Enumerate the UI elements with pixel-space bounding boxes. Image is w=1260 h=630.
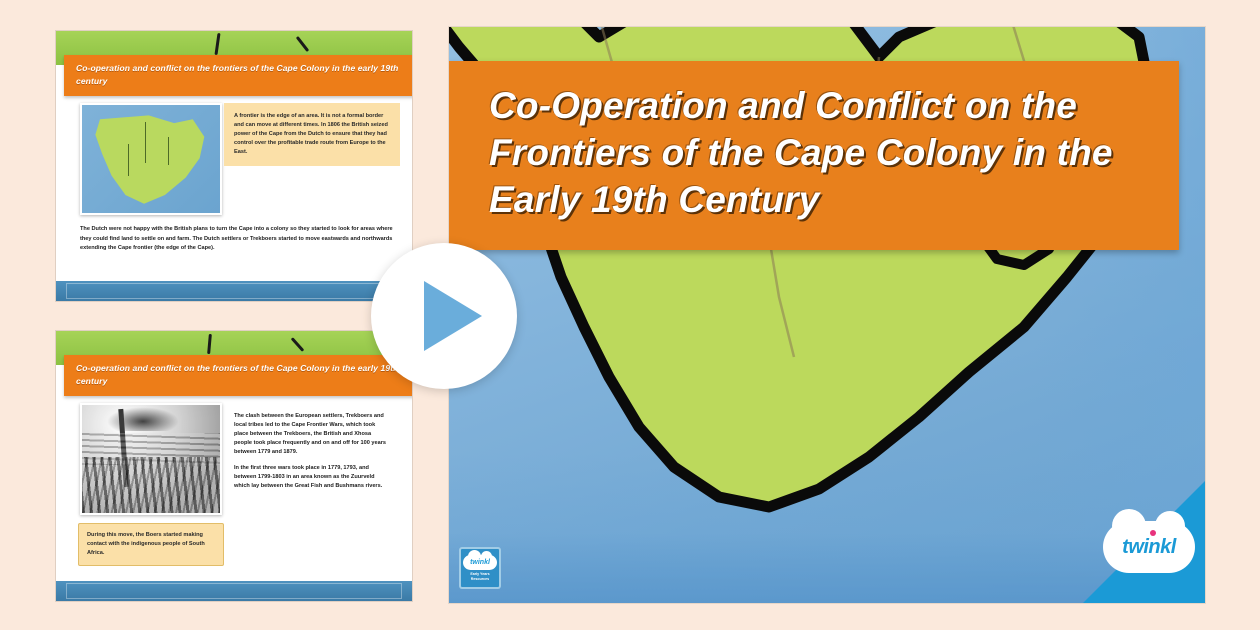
slide-2-callout: During this move, the Boers started maki…: [78, 523, 224, 566]
twinkl-badge[interactable]: twinkl Early Years Resources: [459, 547, 501, 589]
slide-2-engraving-image: [80, 403, 222, 515]
slide-2-side-text-panel: The clash between the European settlers,…: [224, 403, 400, 500]
thumbnail-column: Co-operation and conflict on the frontie…: [55, 30, 415, 602]
engraving-figures: [82, 457, 220, 513]
slide-2-side-text-2: In the first three wars took place in 17…: [234, 464, 390, 491]
play-triangle-icon: [424, 281, 482, 351]
slide-2-body: The clash between the European settlers,…: [56, 403, 412, 601]
mini-map-border: [168, 137, 169, 165]
twinkl-logo[interactable]: twinkl: [1103, 521, 1195, 573]
thumbnail-slide-1[interactable]: Co-operation and conflict on the frontie…: [55, 30, 413, 302]
main-slide-title: Co-Operation and Conflict on the Frontie…: [489, 83, 1145, 224]
slide-1-footer: [56, 279, 412, 301]
thumbnail-slide-2[interactable]: Co-operation and conflict on the frontie…: [55, 330, 413, 602]
slide-1-map-image: [80, 103, 222, 215]
badge-cloud-icon: twinkl: [463, 555, 497, 570]
slide-2-title: Co-operation and conflict on the frontie…: [64, 355, 413, 396]
mini-map-icon: [82, 105, 220, 213]
slide-1-side-text-panel: A frontier is the edge of an area. It is…: [224, 103, 400, 166]
slide-2-side-text-1: The clash between the European settlers,…: [234, 412, 390, 457]
mini-map-land: [93, 111, 209, 208]
slide-1-title: Co-operation and conflict on the frontie…: [64, 55, 413, 96]
badge-wordmark: twinkl: [470, 559, 490, 566]
main-title-banner: Co-Operation and Conflict on the Frontie…: [449, 61, 1179, 250]
main-slide-preview[interactable]: Co-Operation and Conflict on the Frontie…: [448, 26, 1206, 604]
slide-1-body: A frontier is the edge of an area. It is…: [56, 103, 412, 301]
play-button[interactable]: [371, 243, 517, 389]
slide-1-footer-inner: [66, 283, 402, 299]
twinkl-dot-icon: [1150, 530, 1156, 536]
slide-2-footer: [56, 579, 412, 601]
badge-subtitle: Early Years Resources: [461, 572, 499, 581]
slide-1-side-text: A frontier is the edge of an area. It is…: [234, 112, 390, 157]
slide-2-footer-inner: [66, 583, 402, 599]
mini-map-border: [145, 122, 146, 163]
mini-map-border: [128, 144, 129, 176]
slide-1-body-text: The Dutch were not happy with the Britis…: [80, 225, 396, 254]
twinkl-wordmark: twinkl: [1103, 521, 1195, 573]
engraving-illustration: [82, 405, 220, 513]
